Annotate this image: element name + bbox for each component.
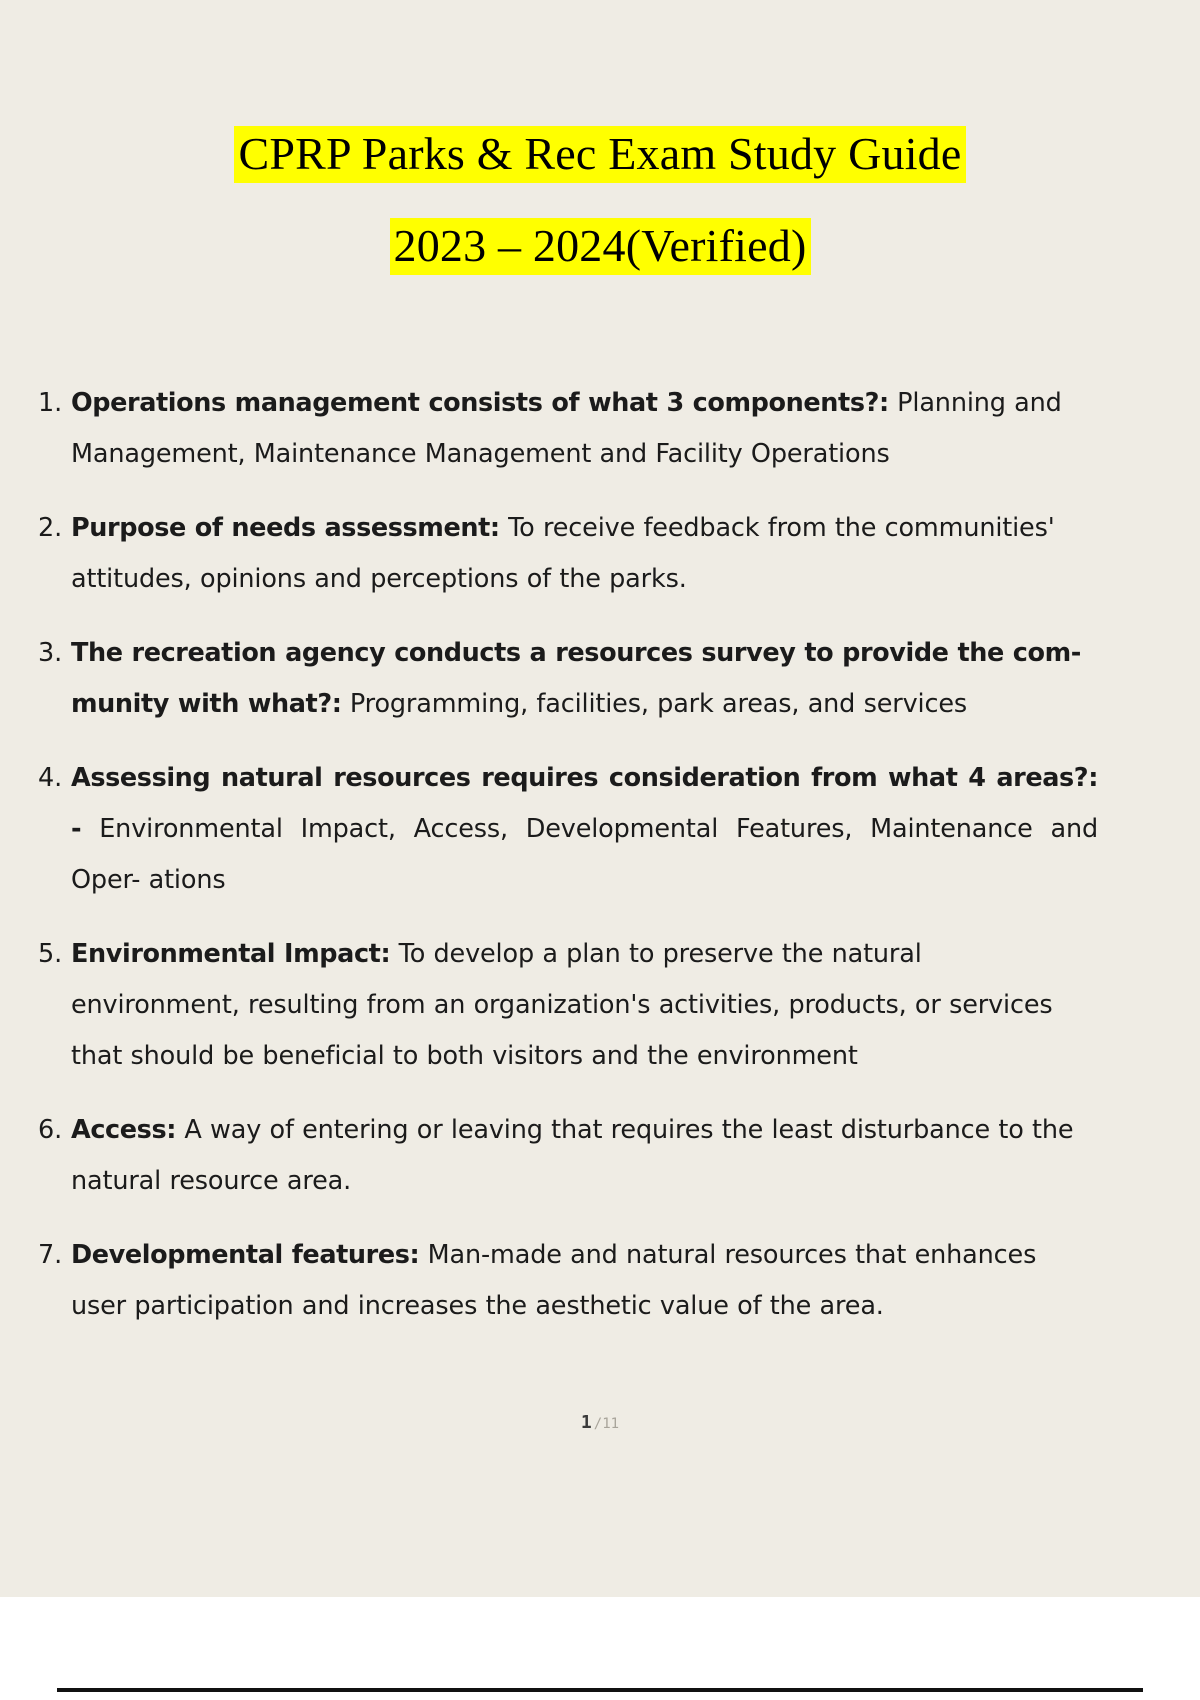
title-highlight-1: CPRP Parks & Rec Exam Study Guide — [234, 126, 965, 183]
item-question: Operations management consists of what 3… — [71, 388, 889, 418]
document-title: CPRP Parks & Rec Exam Study Guide 2023 –… — [0, 0, 1200, 292]
item-number: 4. — [38, 753, 62, 804]
list-item: 1.Operations management consists of what… — [38, 378, 1098, 480]
item-number: 1. — [38, 378, 62, 429]
title-line-2: 2023 – 2024(Verified) — [0, 200, 1200, 292]
page-gap — [0, 1597, 1200, 1700]
item-answer-dash: - — [71, 814, 81, 844]
title-line-1: CPRP Parks & Rec Exam Study Guide — [0, 108, 1200, 200]
item-number: 3. — [38, 628, 62, 679]
item-number: 7. — [38, 1230, 62, 1281]
current-page-number: 1 — [581, 1412, 592, 1433]
item-question: Environmental Impact: — [71, 939, 390, 969]
total-page-count: 11 — [602, 1416, 619, 1432]
item-number: 6. — [38, 1105, 62, 1156]
item-answer: Environmental Impact, Access, Developmen… — [71, 814, 1098, 895]
next-page-rule — [57, 1688, 1143, 1692]
page-footer: 1/11 — [0, 1412, 1200, 1433]
item-question: Developmental features: — [71, 1240, 419, 1270]
title-highlight-2: 2023 – 2024(Verified) — [390, 218, 811, 275]
list-item: 2.Purpose of needs assessment: To receiv… — [38, 503, 1098, 605]
list-item: 3.The recreation agency conducts a resou… — [38, 628, 1098, 730]
item-question: Assessing natural resources requires con… — [71, 763, 1098, 793]
item-answer: A way of entering or leaving that requir… — [71, 1115, 1073, 1196]
list-item: 7.Developmental features: Man-made and n… — [38, 1230, 1098, 1332]
item-number: 2. — [38, 503, 62, 554]
item-question: Purpose of needs assessment: — [71, 513, 500, 543]
item-number: 5. — [38, 929, 62, 980]
qa-list: 1.Operations management consists of what… — [38, 378, 1098, 1355]
document-page: CPRP Parks & Rec Exam Study Guide 2023 –… — [0, 0, 1200, 1597]
page-separator: / — [594, 1416, 602, 1432]
list-item: 6.Access: A way of entering or leaving t… — [38, 1105, 1098, 1207]
list-item: 4.Assessing natural resources requires c… — [38, 753, 1098, 906]
item-answer: Programming, facilities, park areas, and… — [342, 689, 967, 719]
item-question: Access: — [71, 1115, 176, 1145]
list-item: 5.Environmental Impact: To develop a pla… — [38, 929, 1098, 1082]
